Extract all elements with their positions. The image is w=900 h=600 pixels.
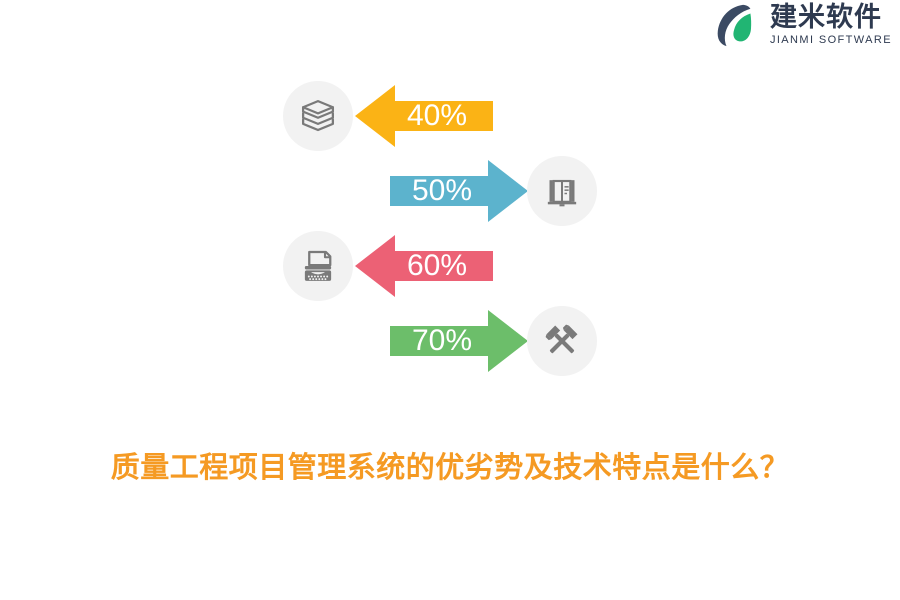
- arrow-70: 70%: [390, 310, 528, 372]
- arrow-50: 50%: [390, 160, 528, 222]
- typewriter-icon: [283, 231, 353, 301]
- open-book-icon: [527, 156, 597, 226]
- arrow-40: 40%: [355, 85, 493, 147]
- crossed-hammers-icon: [527, 306, 597, 376]
- arrow-label-60: 60%: [407, 235, 467, 297]
- jianmi-leaf-logo-icon: [714, 2, 760, 48]
- percentage-arrow-diagram: 40% 50%: [0, 60, 900, 400]
- arrow-label-50: 50%: [412, 160, 472, 222]
- diagram-row: 70%: [0, 301, 900, 381]
- page-title: 质量工程项目管理系统的优劣势及技术特点是什么？: [0, 444, 900, 486]
- diagram-row: 40%: [0, 76, 900, 156]
- arrow-label-40: 40%: [407, 85, 467, 147]
- arrow-label-70: 70%: [412, 310, 472, 372]
- diagram-row: 50%: [0, 151, 900, 231]
- brand-logo: 建米软件 JIANMI SOFTWARE: [714, 0, 892, 50]
- brand-wordmark: 建米软件 JIANMI SOFTWARE: [770, 4, 892, 46]
- stacked-books-icon: [283, 81, 353, 151]
- brand-name-cn: 建米软件: [770, 4, 892, 31]
- brand-name-en: JIANMI SOFTWARE: [770, 35, 892, 46]
- arrow-60: 60%: [355, 235, 493, 297]
- diagram-row: 60%: [0, 226, 900, 306]
